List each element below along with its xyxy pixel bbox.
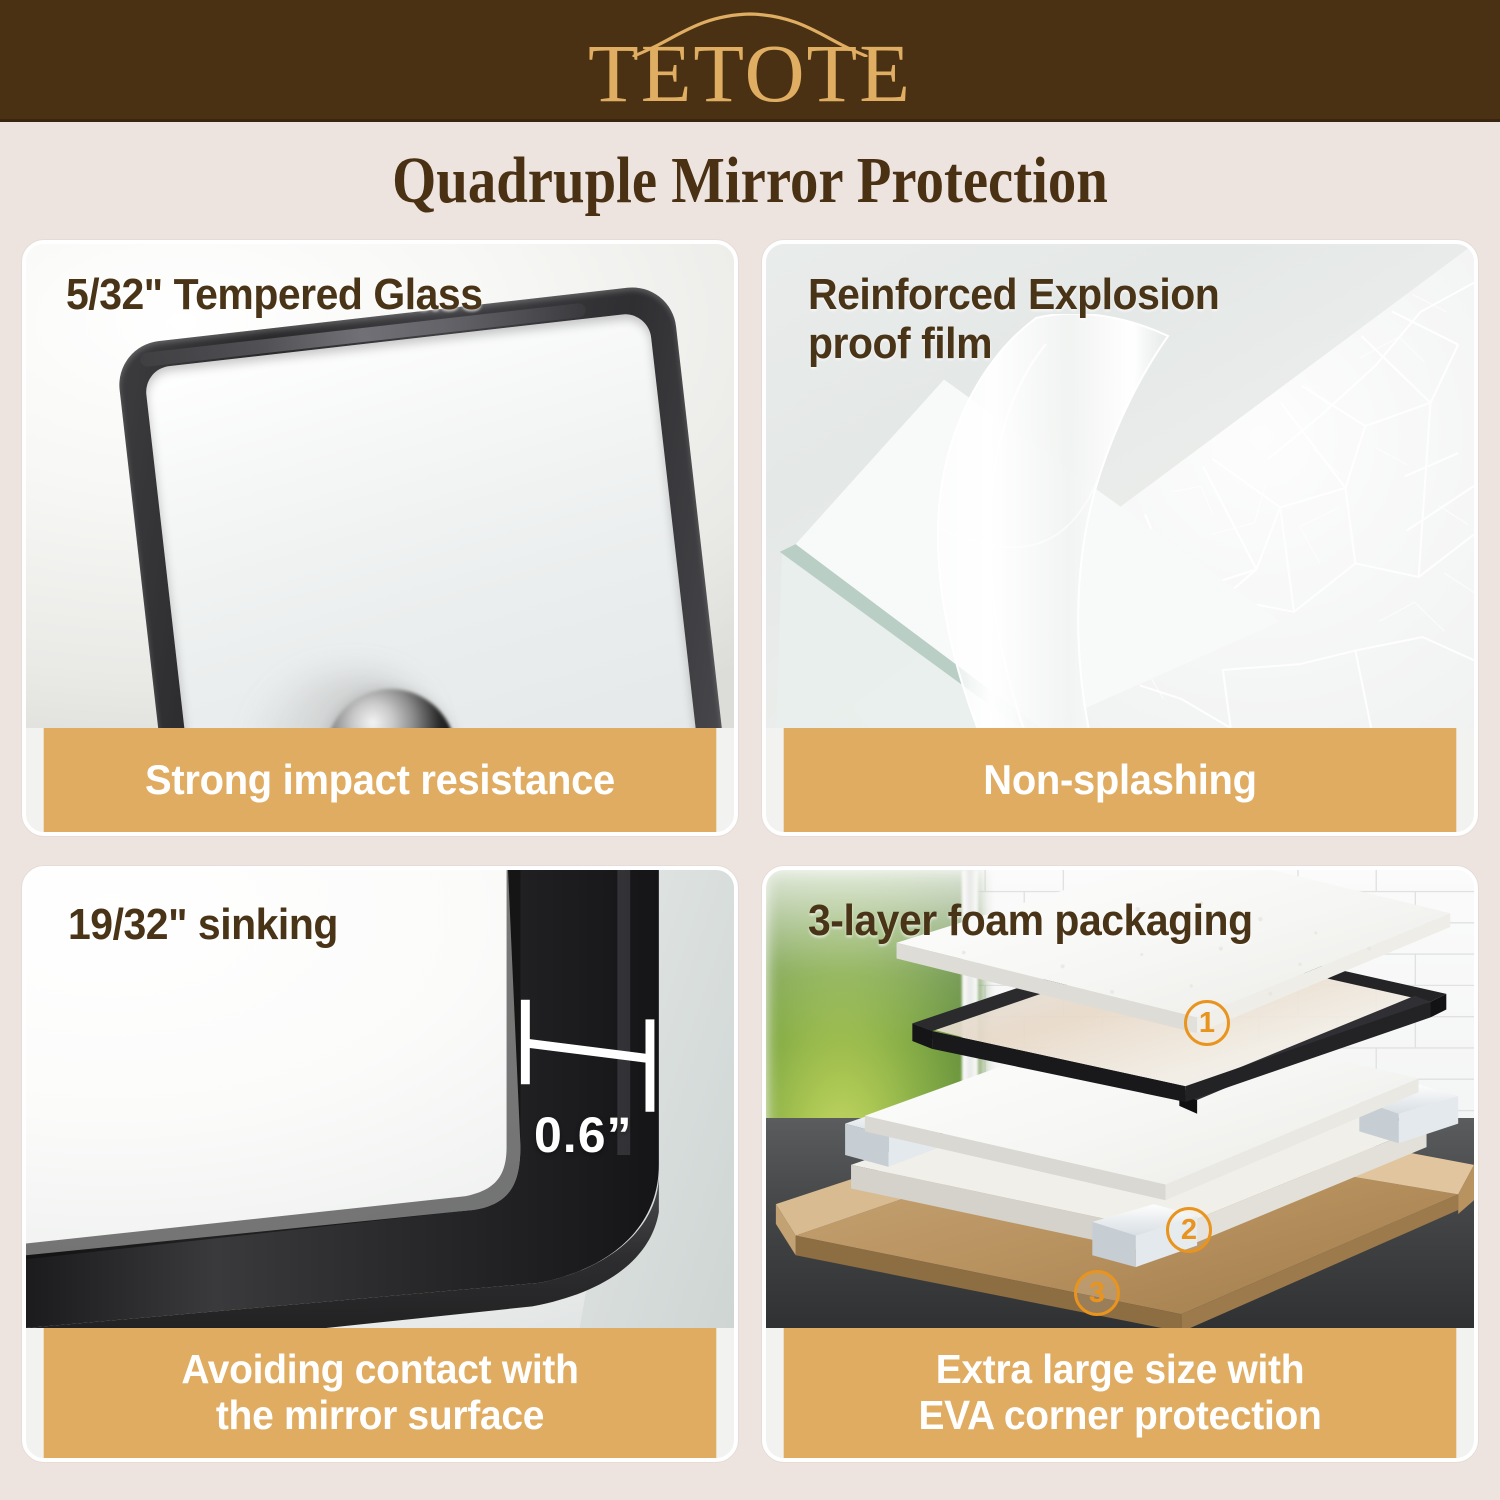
feature-panel-explosion-proof-film[interactable]: Reinforced Explosion proof film Non-spla…	[762, 240, 1478, 836]
feature-panel-sinking-frame[interactable]: 0.6” 19/32" sinking Avoiding contact wit…	[22, 866, 738, 1462]
panel-heading: 19/32" sinking	[68, 900, 338, 949]
panel-caption: Avoiding contact with the mirror surface	[44, 1328, 717, 1458]
page-title: Quadruple Mirror Protection	[105, 142, 1395, 220]
layer-badge-3: 3	[1074, 1270, 1120, 1316]
dimension-value-label: 0.6”	[534, 1106, 633, 1164]
feature-panel-foam-packaging[interactable]: 1 2 3 3-layer foam packaging Extra large…	[762, 866, 1478, 1462]
feature-grid: 5/32" Tempered Glass Strong impact resis…	[22, 240, 1478, 1462]
feature-panel-tempered-glass[interactable]: 5/32" Tempered Glass Strong impact resis…	[22, 240, 738, 836]
layer-badge-2: 2	[1166, 1207, 1212, 1253]
brand-header: TETOTE	[0, 0, 1500, 122]
layer-badge-1: 1	[1184, 1000, 1230, 1046]
brand-logo-text: TETOTE	[585, 34, 915, 113]
panel-caption: Non-splashing	[784, 728, 1457, 832]
panel-heading: 5/32" Tempered Glass	[66, 270, 482, 319]
panel-heading: Reinforced Explosion proof film	[808, 270, 1219, 369]
brand-logo: TETOTE	[585, 7, 915, 119]
panel-caption: Strong impact resistance	[44, 728, 717, 832]
panel-caption: Extra large size with EVA corner protect…	[784, 1328, 1457, 1458]
panel-heading: 3-layer foam packaging	[808, 896, 1253, 945]
protective-film-peel-icon	[886, 314, 1186, 728]
